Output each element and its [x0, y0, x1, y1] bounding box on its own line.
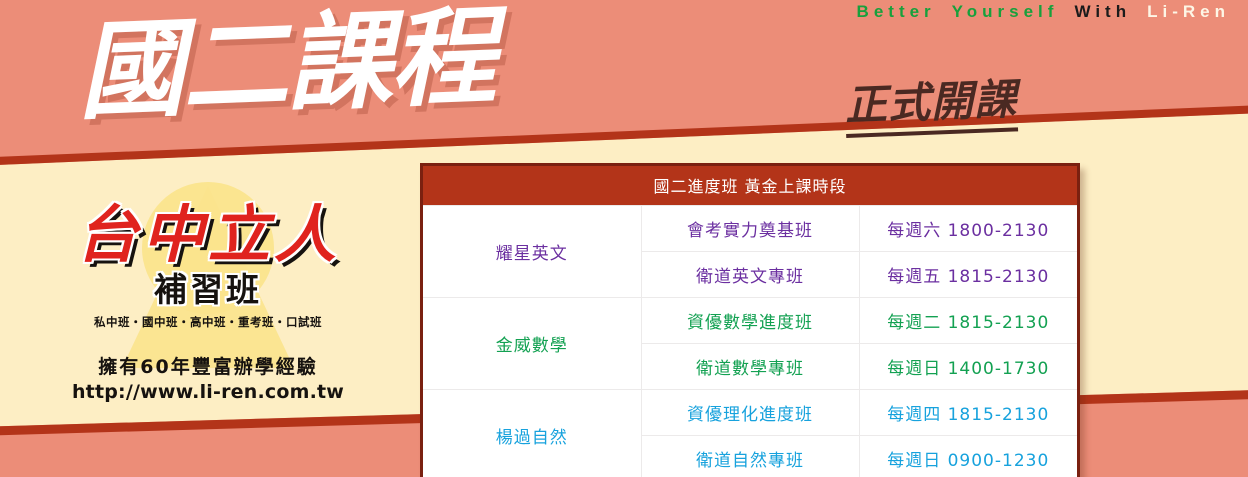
schedule-table-element: 國二進度班 黃金上課時段 耀星英文會考實力奠基班每週六 1800-2130衛道英… [423, 166, 1077, 477]
course-name-cell: 資優理化進度班 [641, 390, 859, 436]
subject-cell: 耀星英文 [423, 206, 641, 298]
logo: 台中立人 補習班 私中班・國中班・高中班・重考班・口試班 擁有60年豐富辦學經驗… [38, 186, 378, 418]
course-time-cell: 每週六 1800-2130 [859, 206, 1077, 252]
subject-cell: 金威數學 [423, 298, 641, 390]
course-name-cell: 衛道自然專班 [641, 436, 859, 477]
table-row: 金威數學資優數學進度班每週二 1815-2130 [423, 298, 1077, 344]
table-row: 耀星英文會考實力奠基班每週六 1800-2130 [423, 206, 1077, 252]
course-time-cell: 每週二 1815-2130 [859, 298, 1077, 344]
course-time-cell: 每週日 0900-1230 [859, 436, 1077, 477]
tagline-word-liren: Li-Ren [1147, 2, 1230, 21]
subject-cell: 楊過自然 [423, 390, 641, 477]
schedule-table-head: 國二進度班 黃金上課時段 [423, 166, 1077, 206]
logo-website-url: http://www.li-ren.com.tw [38, 381, 378, 403]
logo-class-list: 私中班・國中班・高中班・重考班・口試班 [38, 314, 378, 330]
tagline-word-better: Better [857, 2, 936, 21]
page-title: 國二課程 [76, 2, 496, 126]
logo-experience-text: 擁有60年豐富辦學經驗 [38, 352, 378, 379]
brand-tagline: BetterYourselfWithLi-Ren [857, 2, 1230, 22]
tagline-word-yourself: Yourself [952, 2, 1059, 21]
tagline-word-with: With [1074, 2, 1131, 21]
logo-brand-name: 台中立人 [38, 186, 378, 267]
page-subtitle: 正式開課 [844, 65, 1018, 138]
course-time-cell: 每週四 1815-2130 [859, 390, 1077, 436]
schedule-table-body: 耀星英文會考實力奠基班每週六 1800-2130衛道英文專班每週五 1815-2… [423, 206, 1077, 477]
table-row: 楊過自然資優理化進度班每週四 1815-2130 [423, 390, 1077, 436]
schedule-title-row: 國二進度班 黃金上課時段 [423, 166, 1077, 206]
course-name-cell: 會考實力奠基班 [641, 206, 859, 252]
course-name-cell: 衛道英文專班 [641, 252, 859, 298]
course-name-cell: 資優數學進度班 [641, 298, 859, 344]
schedule-table: 國二進度班 黃金上課時段 耀星英文會考實力奠基班每週六 1800-2130衛道英… [420, 163, 1080, 477]
course-name-cell: 衛道數學專班 [641, 344, 859, 390]
course-time-cell: 每週日 1400-1730 [859, 344, 1077, 390]
course-time-cell: 每週五 1815-2130 [859, 252, 1077, 298]
promotional-banner: BetterYourselfWithLi-Ren 國二課程 正式開課 台中立人 … [0, 0, 1248, 477]
logo-brand-type: 補習班 [38, 263, 378, 311]
schedule-title: 國二進度班 黃金上課時段 [423, 166, 1077, 206]
